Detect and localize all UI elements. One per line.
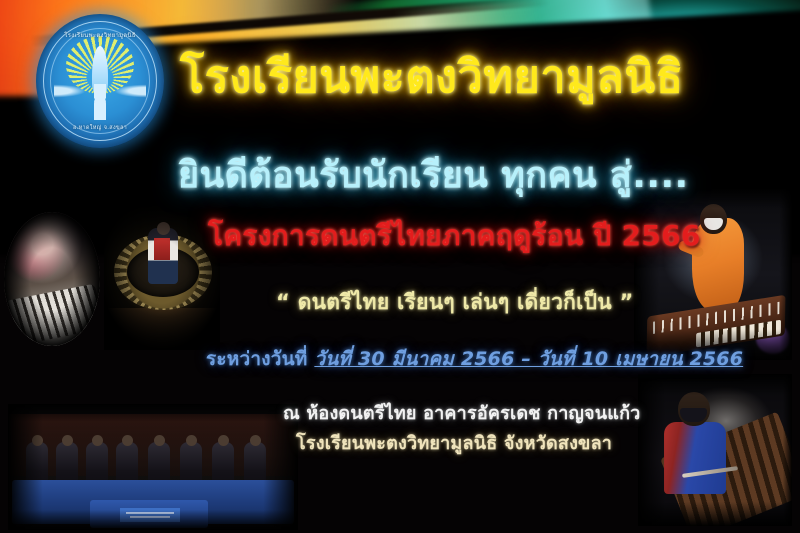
photo-ensemble-stage — [8, 404, 298, 530]
emblem-pagoda-icon — [94, 84, 106, 120]
date-range: วันที่ 30 มีนาคม 2566 – วันที่ 10 เมษายน… — [314, 348, 743, 370]
poster-canvas: โรงเรียนพะตงวิทยามูลนิธิ อ.หาดใหญ่ จ.สงข… — [0, 0, 800, 533]
project-name-line: โครงการดนตรีไทยภาคฤดูร้อน ปี 2566 — [208, 214, 701, 258]
date-range-line: ระหว่างวันที่ วันที่ 30 มีนาคม 2566 – วั… — [206, 344, 743, 374]
emblem-text-bottom: อ.หาดใหญ่ จ.สงขลา — [36, 124, 164, 132]
photo-vignette — [104, 200, 220, 350]
photo-student-ranad-left — [4, 212, 100, 346]
poster-title: โรงเรียนพะตงวิทยามูลนิธิ — [180, 40, 684, 112]
venue-line: ณ ห้องดนตรีไทย อาคารอัครเดช กาญจนแก้ว — [283, 398, 641, 427]
school-emblem: โรงเรียนพะตงวิทยามูลนิธิ อ.หาดใหญ่ จ.สงข… — [36, 14, 164, 148]
photo-boy-ranad — [638, 374, 792, 526]
photo-vignette — [8, 404, 298, 530]
emblem-text-top: โรงเรียนพะตงวิทยามูลนิธิ — [36, 30, 164, 40]
photo-vignette — [4, 212, 100, 346]
photo-vignette — [638, 374, 792, 526]
date-prefix: ระหว่างวันที่ — [206, 348, 314, 370]
slogan-quote: “ ดนตรีไทย เรียนๆ เล่นๆ เดี่ยวก็เป็น ” — [276, 286, 634, 319]
school-location-line: โรงเรียนพะตงวิทยามูลนิธิ จังหวัดสงขลา — [296, 428, 612, 457]
photo-student-gong-circle — [104, 200, 220, 350]
welcome-line: ยินดีต้อนรับนักเรียน ทุกคน สู่.... — [178, 146, 689, 203]
